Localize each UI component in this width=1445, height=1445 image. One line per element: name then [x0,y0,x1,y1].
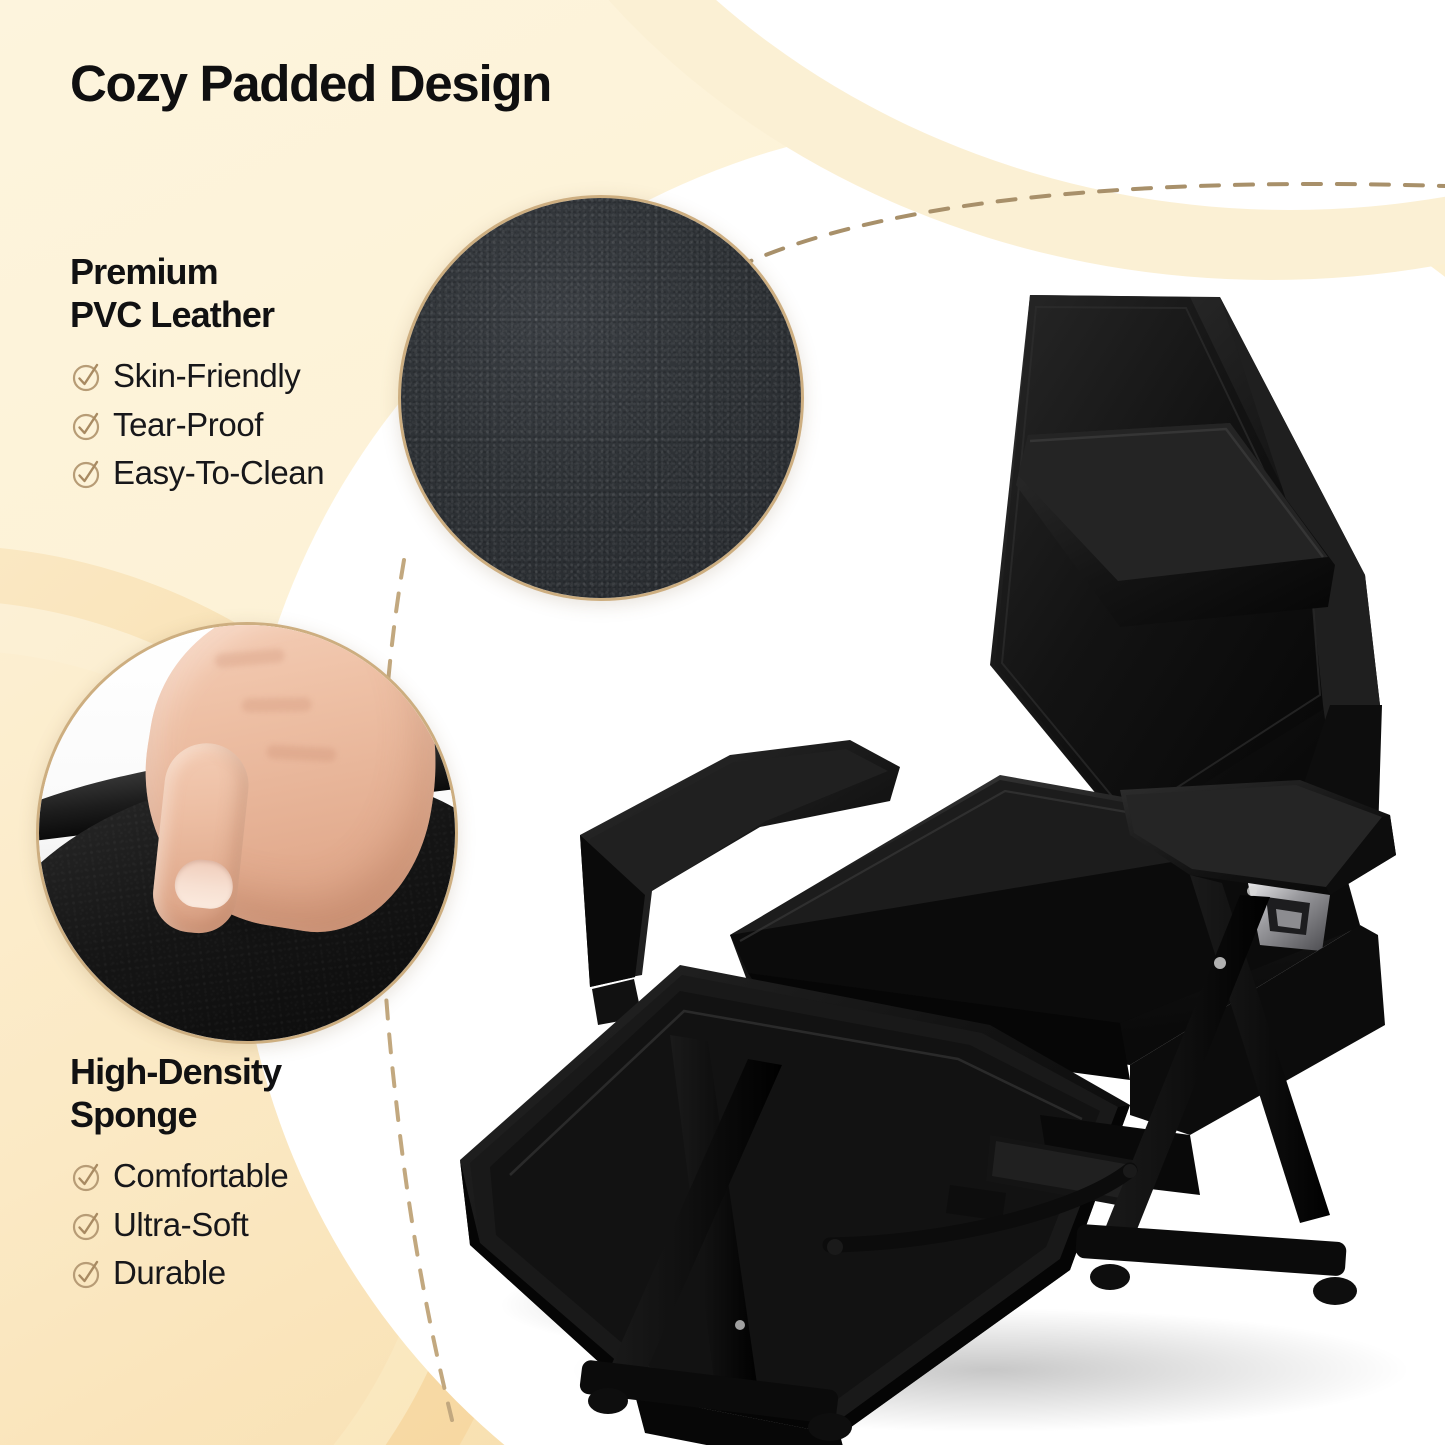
list-item: Tear-Proof [70,401,324,449]
list-item: Comfortable [70,1152,288,1200]
chair-foot-right-back [1313,1277,1357,1305]
chair-foot-left-back [808,1413,852,1441]
check-circle-icon [70,1159,104,1193]
inset-leather-texture [398,195,804,601]
bullet-label: Ultra-Soft [113,1201,248,1249]
chair-foot-right-front [1090,1264,1130,1290]
list-item: Skin-Friendly [70,352,324,400]
bullet-label: Tear-Proof [113,401,263,449]
feature-title-line1: High-Density [70,1051,281,1092]
check-circle-icon [70,359,104,393]
bullet-label: Skin-Friendly [113,352,300,400]
inset-sponge-press [36,622,458,1044]
chair-foot-left-front [588,1388,628,1414]
knuckle-crease [242,697,312,712]
feature-title-line2: Sponge [70,1094,197,1135]
page-title: Cozy Padded Design [70,54,551,113]
check-circle-icon [70,1208,104,1242]
leather-grain-overlay [398,195,804,601]
feature-title-line1: Premium [70,251,218,292]
list-item: Durable [70,1249,288,1297]
check-circle-icon [70,408,104,442]
chair-hinge-bolt [1247,886,1257,896]
product-feature-banner: Cozy Padded Design Premium PVC Leather S… [0,0,1445,1445]
chair-hinge-bolt [735,1320,745,1330]
knuckle-crease [266,745,337,763]
bullet-label: Easy-To-Clean [113,449,324,497]
feature-title-sponge: High-Density Sponge [70,1050,288,1136]
knuckle-crease [214,648,285,668]
bullet-label: Durable [113,1249,226,1297]
list-item: Ultra-Soft [70,1201,288,1249]
feature-bullet-list-leather: Skin-Friendly Tear-Proof Easy-To-Clean [70,352,324,497]
feature-block-high-density-sponge: High-Density Sponge Comfortable Ultra-So… [70,1050,288,1297]
feature-bullet-list-sponge: Comfortable Ultra-Soft Durable [70,1152,288,1297]
feature-title-leather: Premium PVC Leather [70,250,324,336]
check-circle-icon [70,1256,104,1290]
feature-block-premium-pvc-leather: Premium PVC Leather Skin-Friendly Tear-P… [70,250,324,497]
bullet-label: Comfortable [113,1152,288,1200]
feature-title-line2: PVC Leather [70,294,274,335]
list-item: Easy-To-Clean [70,449,324,497]
check-circle-icon [70,456,104,490]
chair-hinge-bolt [1214,957,1226,969]
